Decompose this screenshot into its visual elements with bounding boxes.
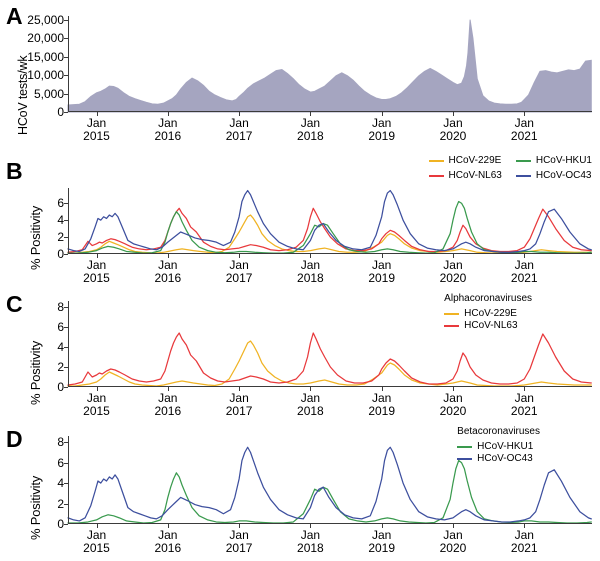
y-tick-mark bbox=[64, 112, 68, 113]
y-tick-mark bbox=[64, 347, 68, 348]
x-tick-year: 2019 bbox=[368, 272, 395, 285]
x-tick-label: Jan2016 bbox=[154, 117, 181, 142]
x-tick-year: 2019 bbox=[368, 130, 395, 143]
panel-d-letter: D bbox=[6, 428, 23, 451]
legend-entry-label: HCoV-NL63 bbox=[449, 170, 502, 183]
legend-swatch-icon bbox=[429, 175, 444, 177]
x-tick-label: Jan2020 bbox=[440, 259, 467, 284]
x-tick-year: 2020 bbox=[440, 405, 467, 418]
panel-c-plot-area: 02468Jan2015Jan2016Jan2017Jan2018Jan2019… bbox=[68, 301, 592, 387]
y-tick-mark bbox=[64, 20, 68, 21]
x-tick-month: Jan bbox=[440, 117, 467, 130]
legend-entry[interactable]: HCoV-HKU1 bbox=[516, 155, 592, 168]
y-tick-label: 10,000 bbox=[27, 68, 64, 82]
y-tick-label: 5,000 bbox=[34, 87, 64, 101]
x-tick-label: Jan2021 bbox=[511, 117, 538, 142]
panel-c-x-axis-line bbox=[68, 386, 592, 387]
y-tick-mark bbox=[64, 483, 68, 484]
panel-b-x-axis-line bbox=[68, 253, 592, 254]
x-tick-month: Jan bbox=[511, 529, 538, 542]
x-tick-label: Jan2016 bbox=[154, 529, 181, 554]
x-tick-year: 2015 bbox=[83, 542, 110, 555]
y-tick-label: 4 bbox=[57, 476, 64, 490]
x-tick-month: Jan bbox=[368, 392, 395, 405]
x-tick-year: 2018 bbox=[297, 130, 324, 143]
x-tick-month: Jan bbox=[368, 259, 395, 272]
series-line bbox=[68, 333, 591, 385]
panel-d-plot-area: 02468Jan2015Jan2016Jan2017Jan2018Jan2019… bbox=[68, 436, 592, 524]
panel-b: B % Positivity HCoV-229EHCoV-HKU1HCoV-NL… bbox=[0, 152, 600, 285]
y-tick-label: 0 bbox=[57, 105, 64, 119]
x-tick-year: 2017 bbox=[226, 130, 253, 143]
x-tick-month: Jan bbox=[297, 117, 324, 130]
x-tick-year: 2021 bbox=[511, 130, 538, 143]
x-tick-month: Jan bbox=[440, 392, 467, 405]
x-tick-label: Jan2016 bbox=[154, 392, 181, 417]
panel-d-x-axis-line bbox=[68, 523, 592, 524]
series-line bbox=[68, 191, 591, 253]
series-line bbox=[68, 447, 591, 522]
x-tick-month: Jan bbox=[83, 392, 110, 405]
x-tick-year: 2016 bbox=[154, 405, 181, 418]
legend-swatch-icon bbox=[516, 160, 531, 162]
y-tick-mark bbox=[64, 307, 68, 308]
x-tick-label: Jan2016 bbox=[154, 259, 181, 284]
x-tick-label: Jan2019 bbox=[368, 117, 395, 142]
panel-d-series-layer bbox=[68, 436, 592, 524]
x-tick-label: Jan2017 bbox=[226, 259, 253, 284]
x-tick-year: 2019 bbox=[368, 542, 395, 555]
x-tick-label: Jan2019 bbox=[368, 529, 395, 554]
x-tick-label: Jan2018 bbox=[297, 529, 324, 554]
legend-swatch-icon bbox=[516, 175, 531, 177]
y-tick-mark bbox=[64, 220, 68, 221]
series-line bbox=[68, 341, 591, 386]
legend-entry[interactable]: HCoV-OC43 bbox=[516, 170, 592, 183]
x-tick-year: 2015 bbox=[83, 130, 110, 143]
panel-b-plot-inner: 0246Jan2015Jan2016Jan2017Jan2018Jan2019J… bbox=[68, 188, 592, 254]
x-tick-label: Jan2021 bbox=[511, 392, 538, 417]
x-tick-month: Jan bbox=[83, 259, 110, 272]
x-tick-label: Jan2020 bbox=[440, 392, 467, 417]
legend-entry[interactable]: HCoV-NL63 bbox=[429, 170, 502, 183]
x-tick-label: Jan2017 bbox=[226, 529, 253, 554]
panel-d-y-axis-label: % Positivity bbox=[28, 476, 43, 540]
x-tick-month: Jan bbox=[154, 529, 181, 542]
x-tick-label: Jan2018 bbox=[297, 259, 324, 284]
panel-a-x-axis-line bbox=[68, 111, 592, 112]
x-tick-year: 2015 bbox=[83, 405, 110, 418]
x-tick-year: 2020 bbox=[440, 272, 467, 285]
legend-entry-label: HCoV-229E bbox=[449, 155, 502, 168]
x-tick-month: Jan bbox=[511, 392, 538, 405]
panel-b-letter: B bbox=[6, 160, 23, 183]
legend-swatch-icon bbox=[429, 160, 444, 162]
y-tick-label: 8 bbox=[57, 435, 64, 449]
x-tick-year: 2017 bbox=[226, 542, 253, 555]
panel-a: A HCoV tests/wk 05,00010,00015,00020,000… bbox=[0, 0, 600, 152]
x-tick-month: Jan bbox=[511, 259, 538, 272]
x-tick-label: Jan2020 bbox=[440, 117, 467, 142]
x-tick-year: 2016 bbox=[154, 130, 181, 143]
panel-d-plot-inner: 02468Jan2015Jan2016Jan2017Jan2018Jan2019… bbox=[68, 436, 592, 524]
legend-entry-label: HCoV-OC43 bbox=[536, 170, 592, 183]
y-tick-mark bbox=[64, 387, 68, 388]
x-tick-label: Jan2021 bbox=[511, 529, 538, 554]
y-tick-label: 4 bbox=[57, 213, 64, 227]
x-tick-label: Jan2015 bbox=[83, 529, 110, 554]
panel-a-plot-inner: 05,00010,00015,00020,00025,000Jan2015Jan… bbox=[68, 16, 592, 112]
x-tick-month: Jan bbox=[511, 117, 538, 130]
legend-entry-label: HCoV-HKU1 bbox=[536, 155, 592, 168]
x-tick-label: Jan2021 bbox=[511, 259, 538, 284]
x-tick-year: 2020 bbox=[440, 542, 467, 555]
y-tick-label: 15,000 bbox=[27, 50, 64, 64]
y-tick-label: 6 bbox=[57, 320, 64, 334]
x-tick-month: Jan bbox=[226, 259, 253, 272]
x-tick-year: 2016 bbox=[154, 542, 181, 555]
x-tick-label: Jan2019 bbox=[368, 259, 395, 284]
x-tick-month: Jan bbox=[368, 117, 395, 130]
y-tick-label: 2 bbox=[57, 230, 64, 244]
legend-entry[interactable]: HCoV-229E bbox=[429, 155, 502, 168]
panel-a-plot-area: 05,00010,00015,00020,00025,000Jan2015Jan… bbox=[68, 16, 592, 112]
x-tick-month: Jan bbox=[440, 259, 467, 272]
y-tick-label: 2 bbox=[57, 360, 64, 374]
x-tick-month: Jan bbox=[83, 529, 110, 542]
panel-c: C % Positivity Alphacoronaviruses HCoV-2… bbox=[0, 285, 600, 420]
x-tick-month: Jan bbox=[297, 392, 324, 405]
panel-c-y-axis-label: % Positivity bbox=[28, 341, 43, 405]
y-tick-mark bbox=[64, 442, 68, 443]
y-tick-label: 20,000 bbox=[27, 31, 64, 45]
y-tick-label: 2 bbox=[57, 497, 64, 511]
x-tick-year: 2016 bbox=[154, 272, 181, 285]
series-line bbox=[68, 461, 591, 523]
y-tick-mark bbox=[64, 463, 68, 464]
x-tick-year: 2019 bbox=[368, 405, 395, 418]
x-tick-year: 2015 bbox=[83, 272, 110, 285]
panel-d: D % Positivity Betacoronaviruses HCoV-HK… bbox=[0, 420, 600, 561]
x-tick-label: Jan2015 bbox=[83, 259, 110, 284]
y-tick-mark bbox=[64, 94, 68, 95]
panel-c-plot-inner: 02468Jan2015Jan2016Jan2017Jan2018Jan2019… bbox=[68, 301, 592, 387]
y-tick-mark bbox=[64, 327, 68, 328]
x-tick-month: Jan bbox=[440, 529, 467, 542]
y-tick-mark bbox=[64, 254, 68, 255]
x-tick-month: Jan bbox=[368, 529, 395, 542]
y-tick-label: 4 bbox=[57, 340, 64, 354]
x-tick-month: Jan bbox=[154, 117, 181, 130]
x-tick-month: Jan bbox=[83, 117, 110, 130]
y-tick-label: 6 bbox=[57, 456, 64, 470]
x-tick-year: 2021 bbox=[511, 542, 538, 555]
x-tick-year: 2018 bbox=[297, 272, 324, 285]
y-tick-label: 8 bbox=[57, 300, 64, 314]
panel-b-series-layer bbox=[68, 188, 592, 254]
x-tick-month: Jan bbox=[297, 529, 324, 542]
x-tick-month: Jan bbox=[226, 392, 253, 405]
x-tick-year: 2018 bbox=[297, 542, 324, 555]
series-line bbox=[68, 208, 591, 252]
y-tick-mark bbox=[64, 367, 68, 368]
y-tick-label: 0 bbox=[57, 380, 64, 394]
x-tick-month: Jan bbox=[226, 529, 253, 542]
x-tick-month: Jan bbox=[297, 259, 324, 272]
panel-a-series-layer bbox=[68, 16, 592, 112]
panel-b-y-axis-line bbox=[68, 188, 69, 254]
panel-a-letter: A bbox=[6, 5, 23, 28]
y-tick-mark bbox=[64, 203, 68, 204]
x-tick-label: Jan2020 bbox=[440, 529, 467, 554]
x-tick-year: 2018 bbox=[297, 405, 324, 418]
x-tick-label: Jan2019 bbox=[368, 392, 395, 417]
x-tick-year: 2021 bbox=[511, 272, 538, 285]
series-line bbox=[68, 202, 591, 254]
coronavirus-surveillance-figure: A HCoV tests/wk 05,00010,00015,00020,000… bbox=[0, 0, 600, 561]
panel-b-plot-area: 0246Jan2015Jan2016Jan2017Jan2018Jan2019J… bbox=[68, 188, 592, 254]
series-area bbox=[68, 20, 591, 112]
x-tick-label: Jan2018 bbox=[297, 392, 324, 417]
y-tick-mark bbox=[64, 504, 68, 505]
y-tick-mark bbox=[64, 237, 68, 238]
x-tick-month: Jan bbox=[226, 117, 253, 130]
panel-d-y-axis-line bbox=[68, 436, 69, 524]
x-tick-label: Jan2017 bbox=[226, 392, 253, 417]
y-tick-label: 0 bbox=[57, 517, 64, 531]
x-tick-label: Jan2017 bbox=[226, 117, 253, 142]
panel-c-y-axis-line bbox=[68, 301, 69, 387]
x-tick-month: Jan bbox=[154, 392, 181, 405]
y-tick-mark bbox=[64, 75, 68, 76]
x-tick-label: Jan2015 bbox=[83, 117, 110, 142]
x-tick-label: Jan2018 bbox=[297, 117, 324, 142]
x-tick-label: Jan2015 bbox=[83, 392, 110, 417]
x-tick-year: 2020 bbox=[440, 130, 467, 143]
panel-c-series-layer bbox=[68, 301, 592, 387]
x-tick-year: 2021 bbox=[511, 405, 538, 418]
y-tick-mark bbox=[64, 38, 68, 39]
x-tick-year: 2017 bbox=[226, 272, 253, 285]
y-tick-label: 25,000 bbox=[27, 13, 64, 27]
panel-b-legend: HCoV-229EHCoV-HKU1HCoV-NL63HCoV-OC43 bbox=[429, 155, 593, 182]
y-tick-label: 0 bbox=[57, 247, 64, 261]
panel-a-y-axis-line bbox=[68, 16, 69, 112]
x-tick-month: Jan bbox=[154, 259, 181, 272]
panel-c-letter: C bbox=[6, 293, 23, 316]
y-tick-label: 6 bbox=[57, 196, 64, 210]
y-tick-mark bbox=[64, 524, 68, 525]
x-tick-year: 2017 bbox=[226, 405, 253, 418]
panel-b-y-axis-label: % Positivity bbox=[28, 206, 43, 270]
y-tick-mark bbox=[64, 57, 68, 58]
